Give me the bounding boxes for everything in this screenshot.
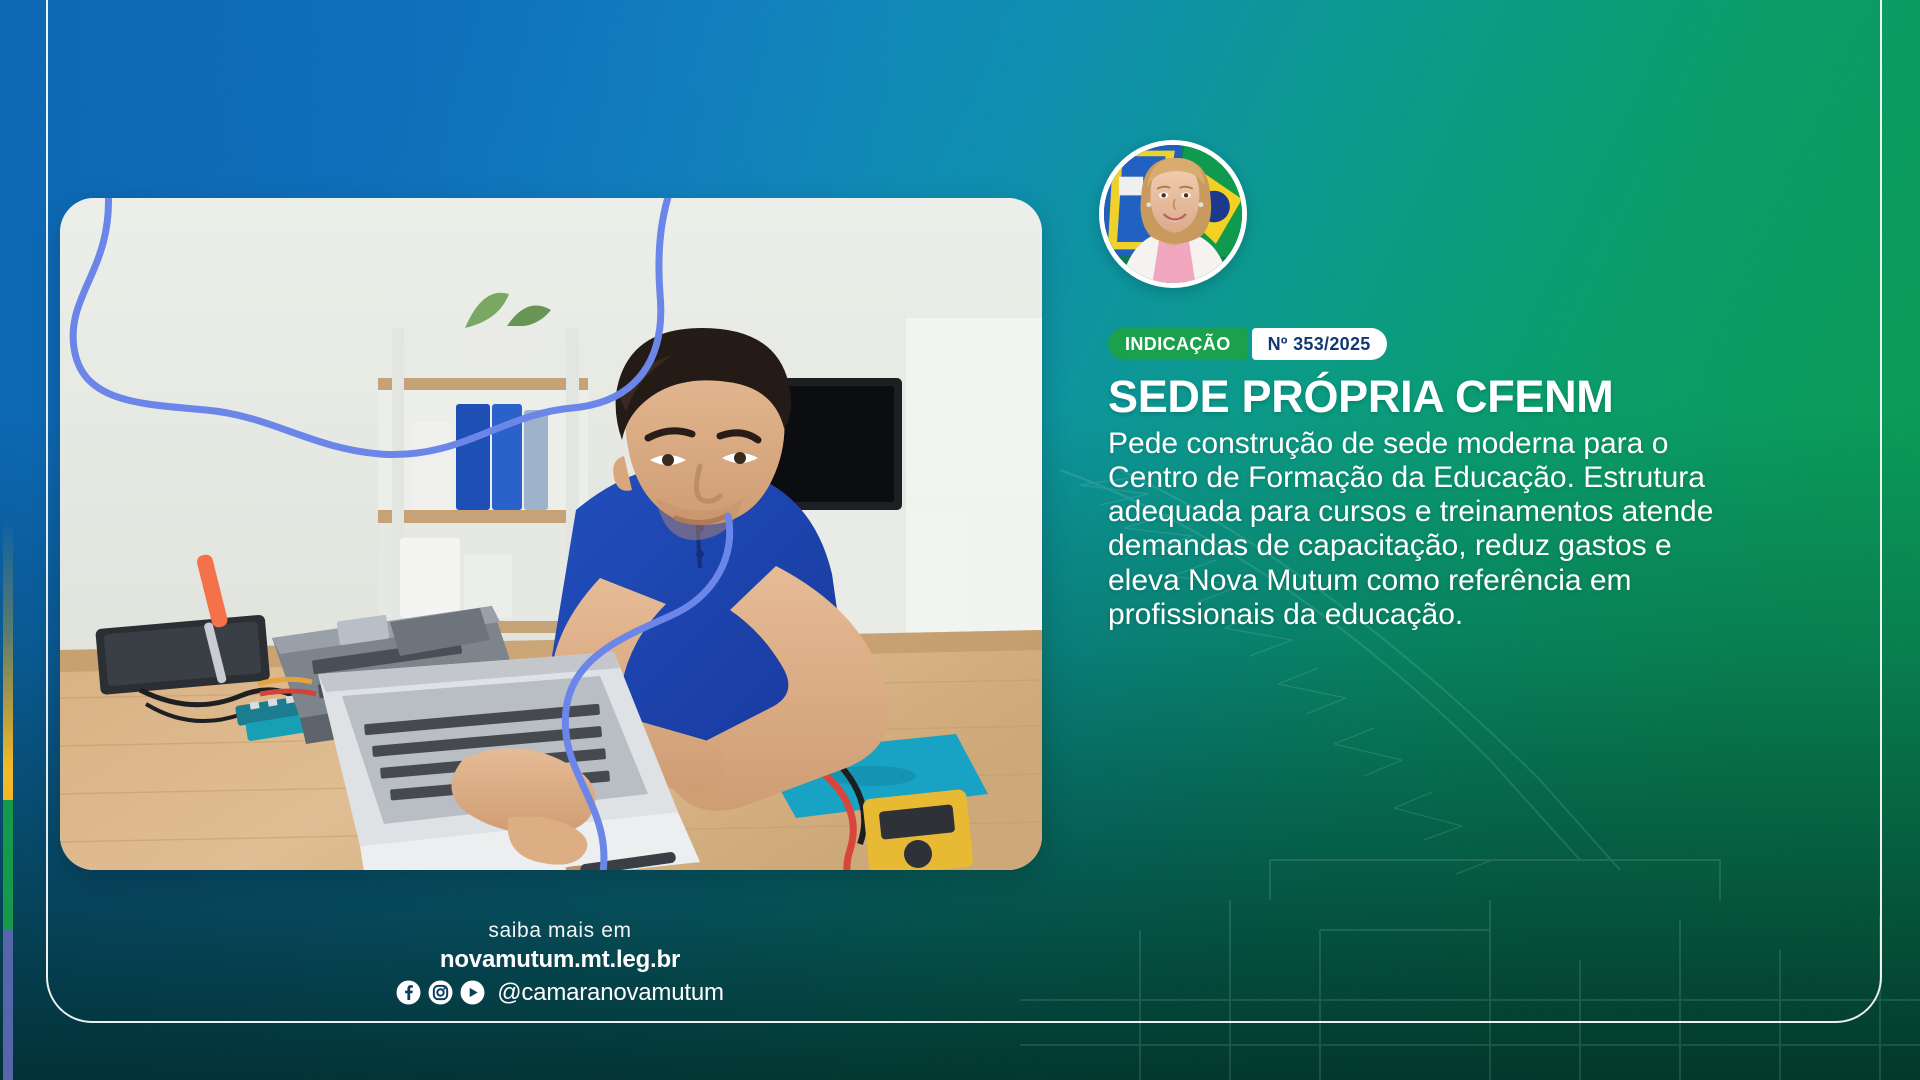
footer-know-more-label: saiba mais em — [396, 918, 724, 944]
footer-handle[interactable]: @camaranovamutum — [497, 979, 724, 1007]
content-column: INDICAÇÃO Nº 353/2025 SEDE PRÓPRIA CFENM… — [1108, 140, 1848, 632]
facebook-icon[interactable] — [396, 980, 421, 1005]
strip-segment-yellow — [3, 520, 13, 800]
photo-illustration — [60, 198, 1042, 870]
badge-number: Nº 353/2025 — [1252, 328, 1387, 360]
footer: saiba mais em novamutum.mt.leg.br — [0, 918, 1920, 1010]
youtube-icon[interactable] — [460, 980, 485, 1005]
footer-inner: saiba mais em novamutum.mt.leg.br — [396, 918, 724, 1006]
main-photo — [60, 198, 1042, 870]
footer-social-row: @camaranovamutum — [396, 979, 724, 1007]
footer-website[interactable]: novamutum.mt.leg.br — [396, 945, 724, 975]
page-title: SEDE PRÓPRIA CFENM — [1108, 374, 1848, 421]
badge-type: INDICAÇÃO — [1108, 328, 1248, 360]
summary-text: Pede construção de sede moderna para o C… — [1108, 427, 1728, 632]
avatar-portrait — [1104, 145, 1242, 283]
instagram-icon[interactable] — [428, 980, 453, 1005]
badge-row: INDICAÇÃO Nº 353/2025 — [1108, 328, 1848, 360]
avatar — [1099, 140, 1247, 288]
strip-segment-green — [3, 800, 13, 930]
